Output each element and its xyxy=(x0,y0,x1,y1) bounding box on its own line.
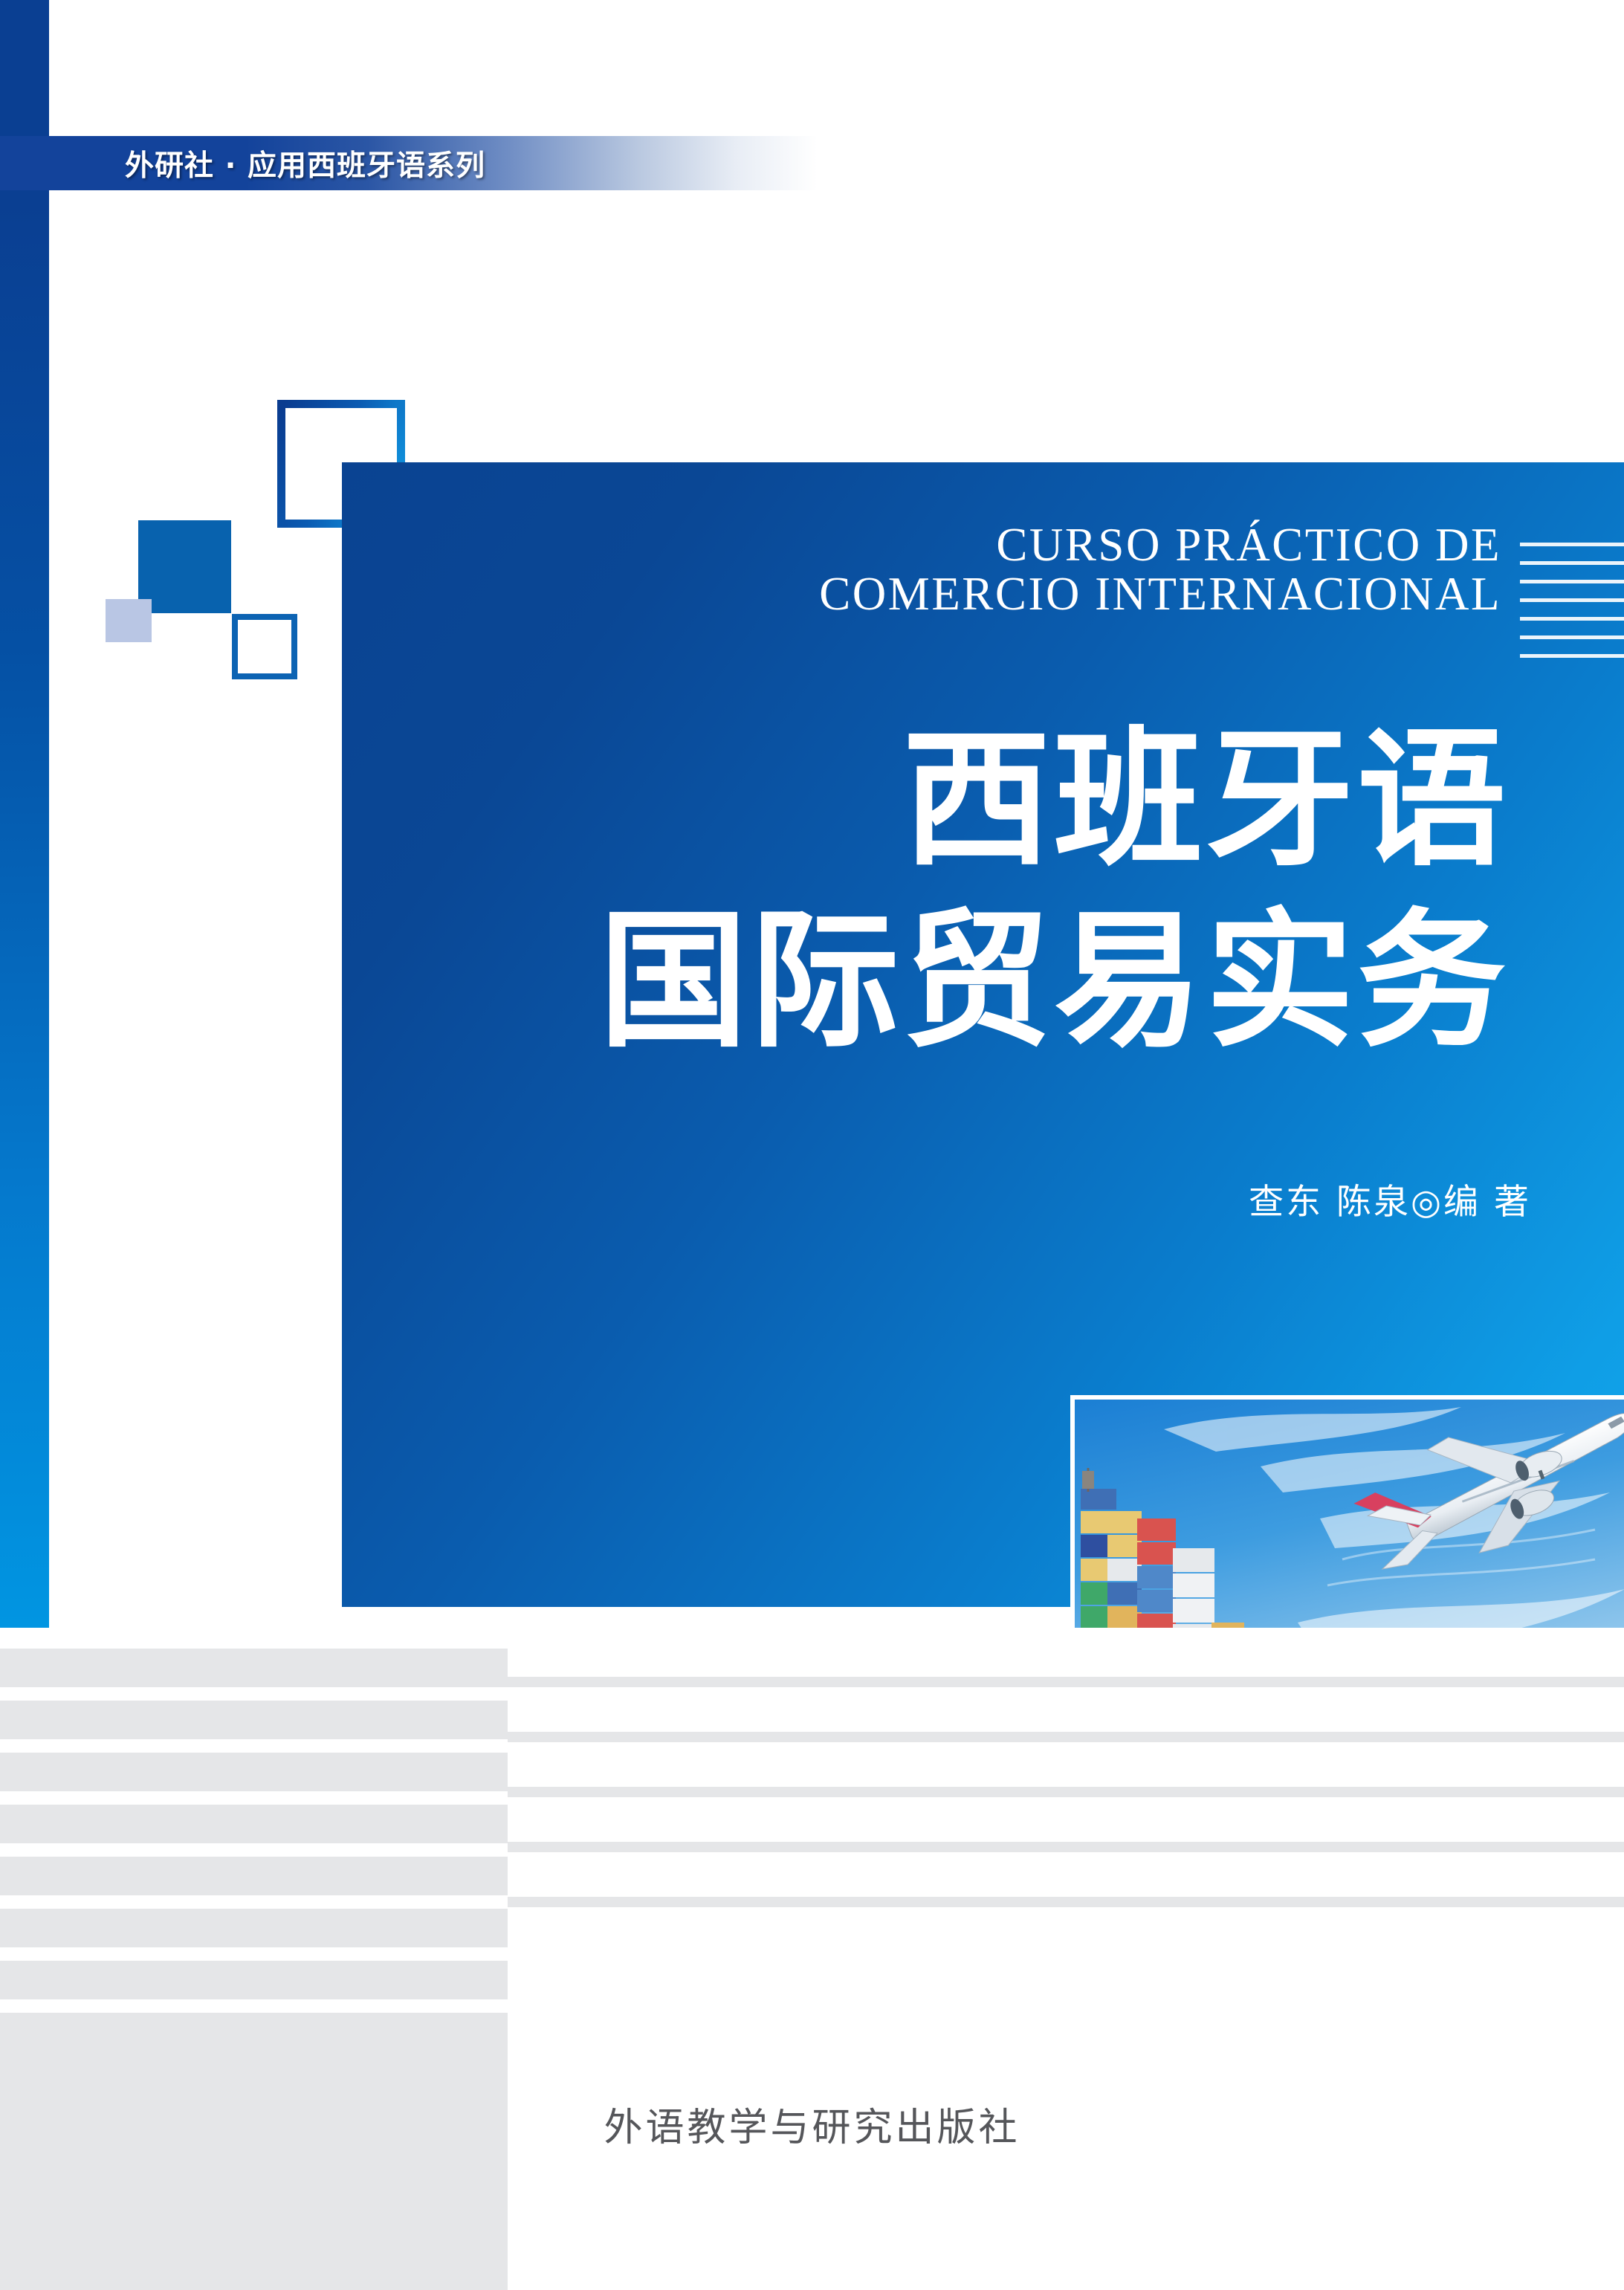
chinese-title: 西班牙语 国际贸易实务 xyxy=(342,710,1509,1073)
chinese-title-line-1: 西班牙语 xyxy=(342,710,1509,891)
publisher-name: 外语教学与研究出版社 xyxy=(0,2096,1624,2152)
spanish-title-line-2: COMERCIO INTERNACIONAL xyxy=(342,569,1501,618)
left-spine-gradient xyxy=(0,0,49,1701)
deco-solid-square-large-icon xyxy=(138,520,231,613)
deco-lavender-square-icon xyxy=(106,599,152,642)
deco-outline-square-small-icon xyxy=(232,614,297,679)
series-banner-label: 外研社 · 应用西班牙语系列 xyxy=(125,143,485,184)
chinese-title-line-2: 国际贸易实务 xyxy=(342,891,1509,1073)
book-cover: 外研社 · 应用西班牙语系列 CURSO PRÁCTICO DE COMERCI… xyxy=(0,0,1624,2290)
spanish-title: CURSO PRÁCTICO DE COMERCIO INTERNACIONAL xyxy=(342,520,1501,618)
authors-line: 查东 陈泉◎编 著 xyxy=(342,1173,1531,1224)
spanish-title-line-1: CURSO PRÁCTICO DE xyxy=(342,520,1501,569)
decorative-hlines-icon xyxy=(1520,543,1624,658)
bottom-stripe-pattern xyxy=(0,1628,1624,2290)
